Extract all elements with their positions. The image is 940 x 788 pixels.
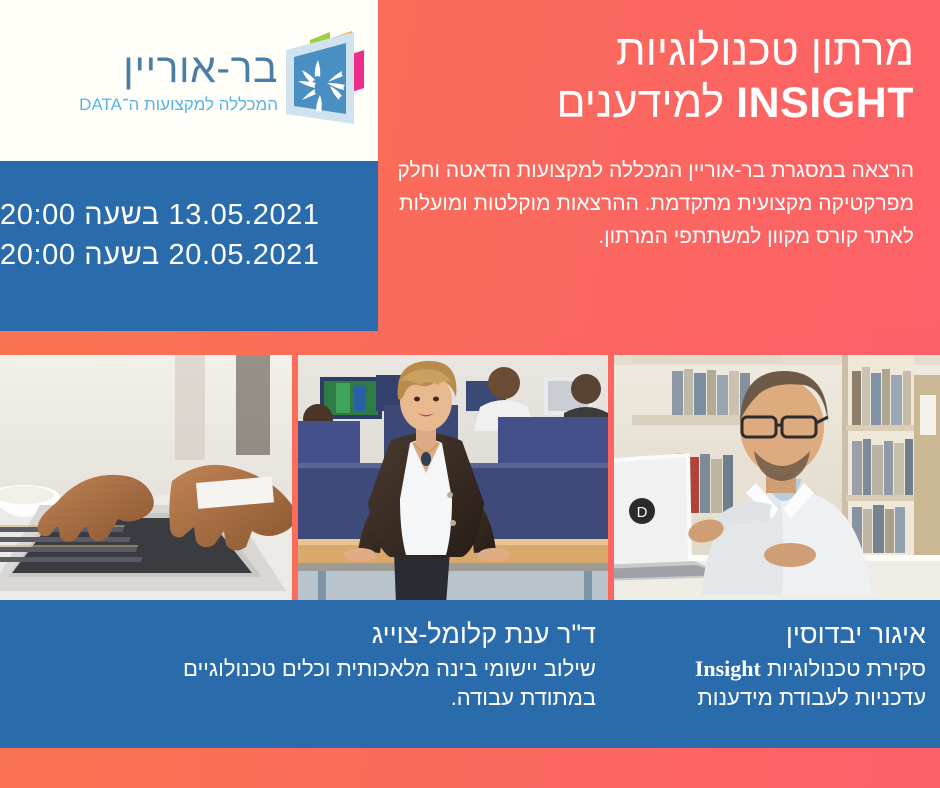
date-line-2: 20.05.2021 בשעה 20:00 xyxy=(0,235,320,275)
dates-panel: 13.05.2021 בשעה 20:00 20.05.2021 בשעה 20… xyxy=(0,161,378,331)
poster-canvas: בר-אוריין המכללה למקצועות ה־DATA xyxy=(0,0,940,788)
title-line-2: למידענים xyxy=(556,79,724,127)
photo-band: D xyxy=(0,355,940,605)
title-brand: INSIGHT xyxy=(736,79,914,127)
speaker-description: שילוב יישומי בינה מלאכותית וכלים טכנולוג… xyxy=(6,655,596,712)
photo-woman-office xyxy=(298,355,608,605)
hero-section: מרתון טכנולוגיות INSIGHT למידענים הרצאה … xyxy=(378,0,940,355)
logo-text-block: בר-אוריין המכללה למקצועות ה־DATA xyxy=(79,48,278,113)
page-title: מרתון טכנולוגיות INSIGHT למידענים xyxy=(390,26,914,129)
speaker-card-anat: ד"ר ענת קלומל-צוייג שילוב יישומי בינה מל… xyxy=(0,600,610,748)
speaker-desc-pre: סקירת טכנולוגיות xyxy=(761,656,926,681)
speaker-name: ד"ר ענת קלומל-צוייג xyxy=(6,618,596,651)
photo-hands-laptop xyxy=(0,355,292,600)
speaker-description: סקירת טכנולוגיות Insight עדכניות לעבודת … xyxy=(616,655,926,712)
logo-panel: בר-אוריין המכללה למקצועות ה־DATA xyxy=(0,0,378,161)
photo-man-library: D xyxy=(614,355,940,600)
date-line-1: 13.05.2021 בשעה 20:00 xyxy=(0,195,320,235)
speaker-card-igor: איגור יבדוסין סקירת טכנולוגיות Insight ע… xyxy=(610,600,940,748)
speaker-desc-post: במתודת עבודה. xyxy=(451,685,596,710)
logo-lockup[interactable]: בר-אוריין המכללה למקצועות ה־DATA xyxy=(79,26,378,136)
footer-gradient-strip xyxy=(0,748,940,788)
speaker-name: איגור יבדוסין xyxy=(616,618,926,651)
speaker-desc-brand: Insight xyxy=(695,656,761,681)
gradient-divider-strip xyxy=(0,331,940,355)
speaker-desc-post: עדכניות לעבודת מידענות xyxy=(698,685,926,710)
svg-text:D: D xyxy=(637,504,648,521)
speakers-bar: איגור יבדוסין סקירת טכנולוגיות Insight ע… xyxy=(0,600,940,748)
hero-body-text: הרצאה במסגרת בר-אוריין המכללה למקצועות ה… xyxy=(390,155,914,253)
logo-title: בר-אוריין xyxy=(79,48,278,89)
logo-subtitle: המכללה למקצועות ה־DATA xyxy=(79,96,278,113)
title-line-1: מרתון טכנולוגיות xyxy=(616,27,914,75)
speaker-desc-pre: שילוב יישומי בינה מלאכותית וכלים טכנולוג… xyxy=(183,656,596,681)
burst-window-logo-icon xyxy=(282,26,370,136)
